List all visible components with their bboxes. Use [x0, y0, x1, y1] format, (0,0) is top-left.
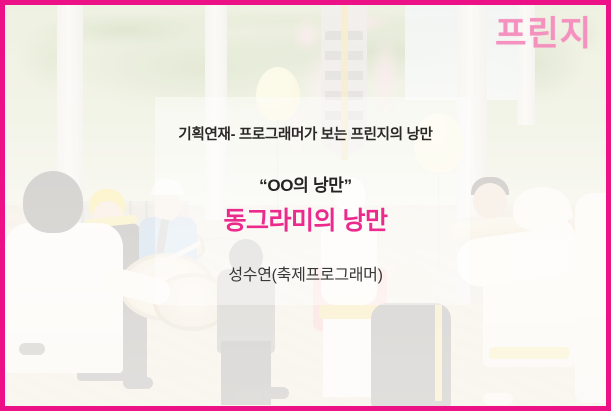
shoe: [483, 393, 513, 405]
shoe: [123, 377, 153, 389]
author-byline: 성수연(축제프로그래머): [5, 261, 606, 285]
shoe: [263, 387, 289, 399]
fringe-article-banner: 프린지 기획연재- 프로그래머가 보는 프린지의 낭만 “OO의 낭만” 동그라…: [0, 0, 611, 411]
gold-waist-sash: [489, 347, 569, 359]
shoe: [235, 389, 263, 401]
hanbok-pants: [323, 317, 377, 397]
gold-trim: [435, 305, 442, 401]
series-kicker: 기획연재- 프로그래머가 보는 프린지의 낭만: [5, 123, 606, 144]
article-headline: 동그라미의 낭만: [5, 201, 606, 237]
shoe: [19, 343, 45, 355]
fringe-logo: 프린지: [495, 17, 592, 51]
quoted-title: “OO의 낭만”: [5, 171, 606, 196]
banner-text-block: 기획연재- 프로그래머가 보는 프린지의 낭만 “OO의 낭만” 동그라미의 낭…: [5, 123, 606, 285]
